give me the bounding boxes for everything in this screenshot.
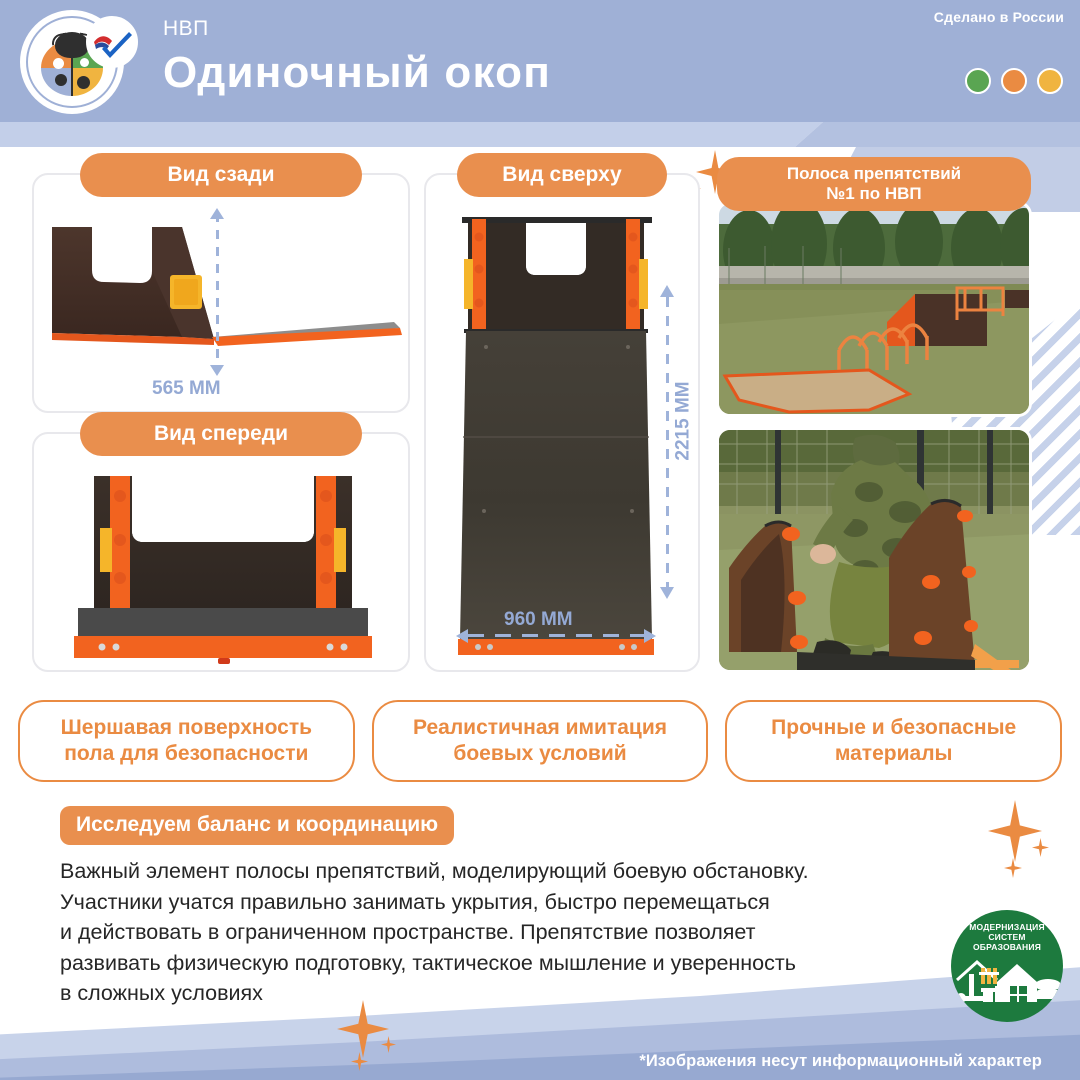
ladybug-logo <box>12 8 142 116</box>
edu-badge-line-2: СИСТЕМ <box>988 932 1025 942</box>
panel-front-view: Вид спереди <box>32 432 410 672</box>
made-in-russia-label: Сделано в России <box>934 9 1064 25</box>
dot-yellow <box>1037 68 1063 94</box>
panel-back-view-tab: Вид сзади <box>80 153 362 197</box>
back-view-dim-arrow-bottom <box>210 365 224 376</box>
dot-green <box>965 68 991 94</box>
front-view-render <box>72 468 374 664</box>
description-badge: Исследуем баланс и координацию <box>60 806 454 845</box>
dot-orange <box>1001 68 1027 94</box>
sparkle-right <box>978 800 1064 886</box>
top-view-vdim-arrow-bottom <box>660 587 674 599</box>
color-dots-row <box>965 68 1063 94</box>
top-view-vertical-dim-label: 2215 ММ <box>673 381 695 460</box>
panel-action-photo <box>716 427 1032 673</box>
top-view-vertical-dim-line <box>666 297 669 592</box>
education-modernization-badge: МОДЕРНИЗАЦИЯ СИСТЕМ ОБРАЗОВАНИЯ <box>951 910 1063 1022</box>
header-kicker: НВП <box>163 18 551 39</box>
panel-front-view-tab: Вид спереди <box>80 412 362 456</box>
feature-pill-2: Реалистичная имитация боевых условий <box>372 700 709 782</box>
back-view-render <box>34 209 412 377</box>
top-view-vdim-arrow-top <box>660 285 674 297</box>
edu-badge-artwork <box>951 954 1063 1010</box>
panel-top-view-tab: Вид сверху <box>457 153 667 197</box>
description-text: Важный элемент полосы препятствий, модел… <box>60 856 809 1009</box>
feature-pill-1: Шершавая поверхность пола для безопаснос… <box>18 700 355 782</box>
edu-badge-line-3: ОБРАЗОВАНИЯ <box>973 942 1041 952</box>
top-view-render <box>456 211 656 663</box>
obstacle-course-photo <box>716 201 1032 417</box>
sparkle-bottom <box>325 1000 405 1078</box>
panel-course-photo: Полоса препятствий №1 по НВП <box>716 173 1032 417</box>
footer-wave-dark <box>0 1022 1080 1080</box>
back-view-dim-arrow-top <box>210 208 224 219</box>
russia-flag-check-icon <box>86 16 138 68</box>
footer-disclaimer: *Изображения несут информационный характ… <box>639 1052 1042 1071</box>
panel-back-view: Вид сзади <box>32 173 410 413</box>
back-view-dimension-line <box>216 213 219 371</box>
title-block: НВП Одиночный окоп <box>163 18 551 99</box>
description-block: Исследуем баланс и координацию Важный эл… <box>60 806 809 1009</box>
feature-pill-3: Прочные и безопасные материалы <box>725 700 1062 782</box>
page-header: НВП Одиночный окоп Сделано в России <box>0 0 1080 122</box>
top-view-hdim-arrow-left <box>456 629 468 643</box>
edu-badge-line-1: МОДЕРНИЗАЦИЯ <box>969 922 1045 932</box>
page-title: Одиночный окоп <box>163 48 551 99</box>
header-band-dark <box>0 122 1080 147</box>
soldier-climbing-obstacle-photo <box>716 427 1032 673</box>
panel-top-view: Вид сверху <box>424 173 700 672</box>
back-view-dimension-label: 565 ММ <box>152 378 221 400</box>
panel-course-photo-tab: Полоса препятствий №1 по НВП <box>717 157 1031 211</box>
top-view-horizontal-dim-label: 960 ММ <box>504 609 573 631</box>
top-view-hdim-arrow-right <box>644 629 656 643</box>
header-band-light <box>0 122 1080 147</box>
top-view-horizontal-dim-line <box>468 634 648 637</box>
ladybug-wing-split <box>71 42 73 96</box>
feature-pills-row: Шершавая поверхность пола для безопаснос… <box>0 700 1080 782</box>
